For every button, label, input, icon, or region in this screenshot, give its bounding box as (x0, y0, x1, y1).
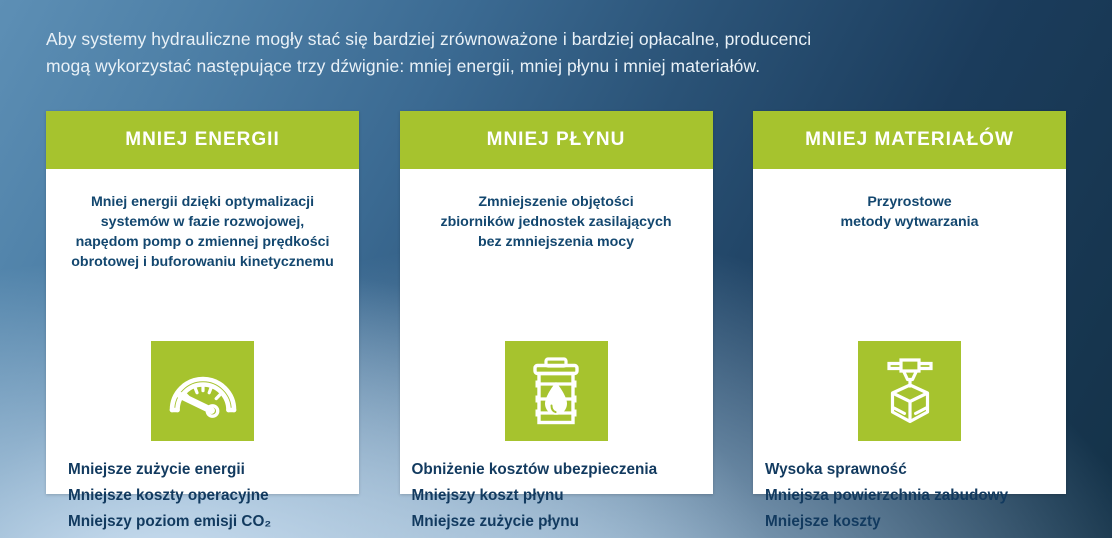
benefit-item: Wysoka sprawność (765, 457, 1054, 483)
gauge-icon (151, 341, 254, 441)
intro-line-1: Aby systemy hydrauliczne mogły stać się … (46, 26, 966, 53)
benefit-item: Mniejszy poziom emisji CO₂ (68, 509, 347, 535)
benefit-item: Mniejsza powierzchnia zabudowy (765, 483, 1054, 509)
benefit-item: Mniejsze koszty (765, 509, 1054, 535)
benefit-list-materialy: Wysoka sprawność Mniejsza powierzchnia z… (765, 457, 1054, 535)
card-mniej-materialow[interactable]: MNIEJ MATERIAŁÓW Przyrostowe metody wytw… (753, 111, 1066, 494)
benefit-item: Mniejsze zużycie płynu (412, 509, 701, 535)
icon-container (753, 341, 1066, 441)
card-mniej-energii[interactable]: MNIEJ ENERGII Mniej energii dzięki optym… (46, 111, 359, 494)
description-line: metody wytwarzania (765, 212, 1054, 232)
card-body-materialy: Przyrostowe metody wytwarzania (753, 169, 1066, 494)
description-line: napędom pomp o zmiennej prędkości (58, 232, 347, 252)
card-body-energia: Mniej energii dzięki optymalizacji syste… (46, 169, 359, 494)
description-line: Przyrostowe (765, 192, 1054, 212)
intro-paragraph: Aby systemy hydrauliczne mogły stać się … (46, 26, 966, 80)
card-title: MNIEJ MATERIAŁÓW (805, 129, 1014, 151)
card-header-energia: MNIEJ ENERGII (46, 111, 359, 169)
card-row: MNIEJ ENERGII Mniej energii dzięki optym… (46, 111, 1066, 494)
icon-container (46, 341, 359, 441)
3d-printing-cube-icon (858, 341, 961, 441)
benefit-item: Mniejsze koszty operacyjne (68, 483, 347, 509)
card-body-plyn: Zmniejszenie objętości zbiorników jednos… (400, 169, 713, 494)
card-header-plyn: MNIEJ PŁYNU (400, 111, 713, 169)
benefit-item: Mniejszy koszt płynu (412, 483, 701, 509)
card-title: MNIEJ ENERGII (125, 129, 279, 151)
benefit-item: Mniejsze zużycie energii (68, 457, 347, 483)
description-line: zbiorników jednostek zasilających (412, 212, 701, 232)
oil-barrel-droplet-icon (505, 341, 608, 441)
description-line: Zmniejszenie objętości (412, 192, 701, 212)
benefit-item: Obniżenie kosztów ubezpieczenia (412, 457, 701, 483)
card-header-materialy: MNIEJ MATERIAŁÓW (753, 111, 1066, 169)
benefit-list-plyn: Obniżenie kosztów ubezpieczenia Mniejszy… (412, 457, 701, 535)
card-title: MNIEJ PŁYNU (487, 129, 626, 151)
infographic-canvas: Aby systemy hydrauliczne mogły stać się … (0, 0, 1112, 538)
card-description: Zmniejszenie objętości zbiorników jednos… (412, 192, 701, 252)
description-line: Mniej energii dzięki optymalizacji (58, 192, 347, 212)
card-description: Mniej energii dzięki optymalizacji syste… (58, 192, 347, 272)
card-mniej-plynu[interactable]: MNIEJ PŁYNU Zmniejszenie objętości zbior… (400, 111, 713, 494)
description-line: obrotowej i buforowaniu kinetycznemu (58, 252, 347, 272)
benefit-list-energia: Mniejsze zużycie energii Mniejsze koszty… (68, 457, 347, 535)
card-description: Przyrostowe metody wytwarzania (765, 192, 1054, 232)
intro-line-2: mogą wykorzystać następujące trzy dźwign… (46, 53, 966, 80)
description-line: systemów w fazie rozwojowej, (58, 212, 347, 232)
description-line: bez zmniejszenia mocy (412, 232, 701, 252)
icon-container (400, 341, 713, 441)
